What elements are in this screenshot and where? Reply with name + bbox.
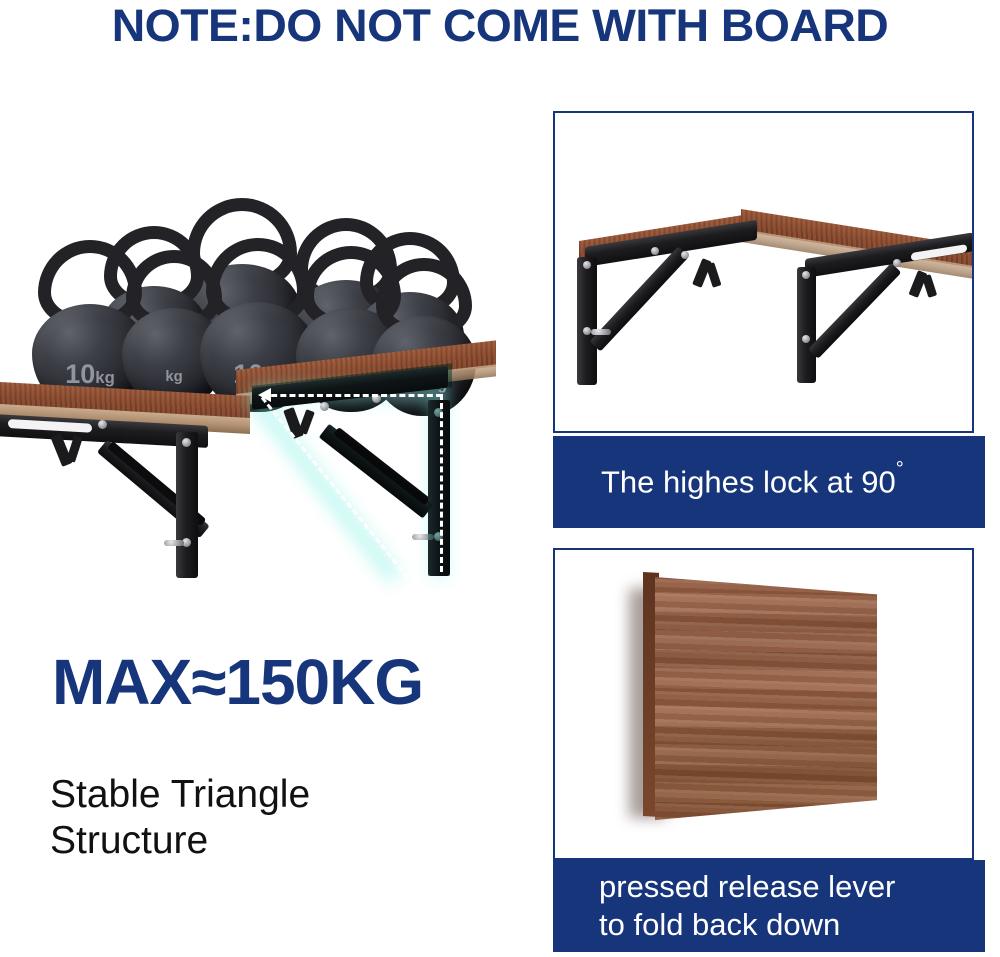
release-lever-tip — [298, 409, 315, 435]
bracket-screw — [893, 259, 901, 267]
caption-fold-down-line-1: pressed release lever — [599, 868, 895, 906]
release-lever-tip — [706, 262, 722, 288]
bracket-wall-post — [797, 267, 816, 383]
hero-illustration-loaded-shelf: 10kg kg 10kg 10kg — [0, 110, 540, 590]
caption-lock-angle-text: The highes lock at 90° — [553, 463, 904, 501]
panel1-bracket-left — [577, 237, 759, 379]
folding-bracket-right-highlighted — [252, 386, 482, 596]
bracket-diagonal-brace — [808, 263, 901, 359]
bracket-screw — [182, 438, 191, 447]
bracket-screw — [320, 402, 329, 411]
caption-lock-angle: The highes lock at 90° — [553, 436, 985, 528]
caption-fold-down-text: pressed release lever to fold back down — [553, 868, 895, 944]
bracket-pin — [591, 329, 611, 335]
panel-fold-down-image — [555, 550, 972, 858]
bracket-screw — [681, 251, 689, 259]
structure-callout: Stable Triangle Structure — [50, 772, 480, 864]
max-load-callout: MAX≈150KG — [52, 645, 423, 719]
structure-line-1: Stable Triangle — [50, 772, 480, 818]
bracket-wall-post — [577, 257, 597, 385]
release-lever-tip — [922, 274, 937, 298]
page-title: NOTE:DO NOT COME WITH BOARD — [0, 0, 1000, 54]
caption-fold-down: pressed release lever to fold back down — [553, 860, 985, 952]
bracket-screw — [583, 261, 591, 269]
bracket-screw — [651, 247, 659, 255]
triangle-glow-hypotenuse — [248, 392, 399, 581]
bracket-screw — [98, 420, 107, 429]
bracket-screw — [583, 327, 591, 335]
bracket-wall-post — [176, 432, 198, 578]
panel-lock-angle-image — [555, 113, 972, 431]
dashed-triangle-vertical-edge — [440, 394, 443, 572]
wooden-board — [655, 572, 877, 820]
bracket-screw — [802, 335, 810, 343]
dashed-arrow-head — [258, 388, 271, 402]
bracket-pin — [164, 540, 184, 546]
panel-fold-down — [553, 548, 974, 860]
teal-highlight-overlay — [428, 400, 450, 576]
degree-symbol: ° — [896, 458, 904, 480]
bracket-screw — [802, 271, 810, 279]
caption-fold-down-line-2: to fold back down — [599, 906, 895, 944]
dashed-triangle-top-edge — [262, 394, 442, 397]
shelf-assembly — [0, 360, 540, 600]
folding-bracket-left — [0, 414, 224, 594]
structure-line-2: Structure — [50, 818, 480, 864]
panel-lock-angle — [553, 111, 974, 433]
panel1-bracket-right — [795, 251, 972, 383]
